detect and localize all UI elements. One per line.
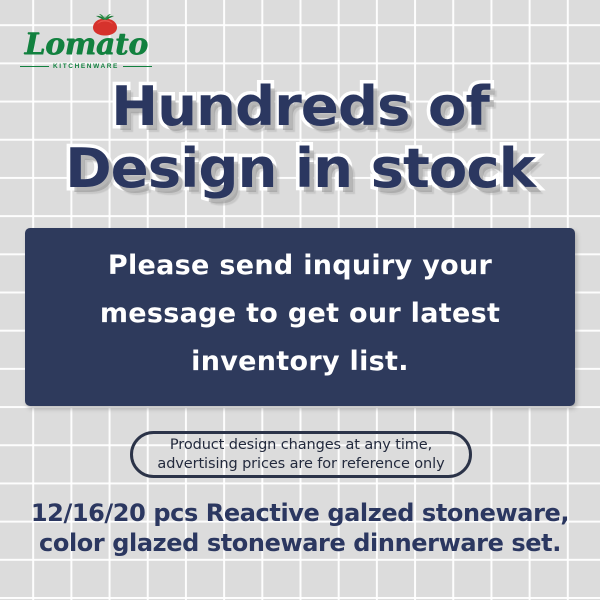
headline-line-2: Design in stock xyxy=(0,138,600,200)
tagline-rule-right xyxy=(123,66,152,67)
disclaimer-line-1: Product design changes at any time, xyxy=(170,436,432,455)
product-line-1: 12/16/20 pcs Reactive galzed stoneware, xyxy=(0,498,600,528)
brand-logo: Lomato KITCHENWARE xyxy=(20,14,152,70)
message-line-1: Please send inquiry your xyxy=(108,242,492,290)
tagline-rule-left xyxy=(20,66,49,67)
disclaimer-pill: Product design changes at any time, adve… xyxy=(130,431,472,478)
poster-canvas: Lomato KITCHENWARE Hundreds of Design in… xyxy=(0,0,600,600)
brand-tagline: KITCHENWARE xyxy=(53,63,119,70)
product-line-2: color glazed stoneware dinnerware set. xyxy=(0,528,600,558)
message-line-3: inventory list. xyxy=(191,338,409,386)
headline: Hundreds of Design in stock xyxy=(0,76,600,200)
inquiry-message-box: Please send inquiry your message to get … xyxy=(25,228,575,406)
message-line-2: message to get our latest xyxy=(100,290,500,338)
product-description: 12/16/20 pcs Reactive galzed stoneware, … xyxy=(0,498,600,558)
headline-line-1: Hundreds of xyxy=(0,76,600,138)
disclaimer-line-2: advertising prices are for reference onl… xyxy=(157,455,444,474)
brand-tagline-row: KITCHENWARE xyxy=(20,63,152,70)
brand-name: Lomato xyxy=(20,30,152,60)
